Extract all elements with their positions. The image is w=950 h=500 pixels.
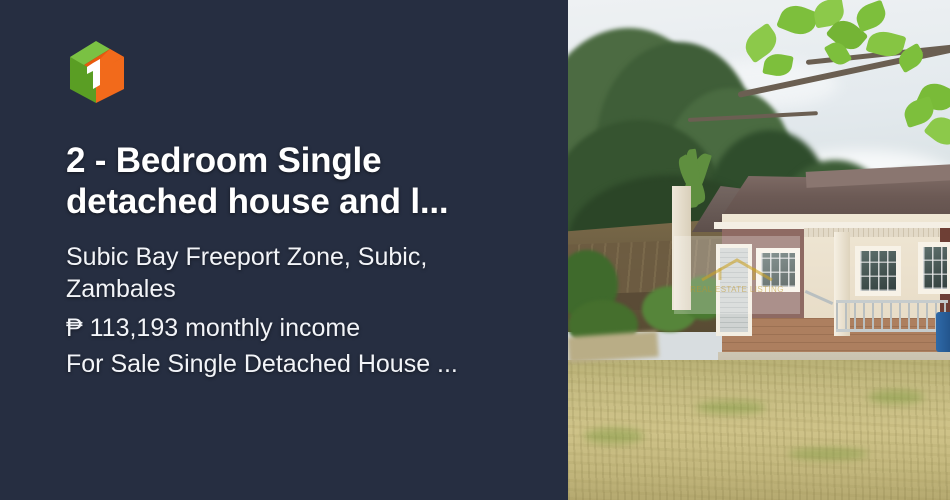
house-logo-icon[interactable]	[62, 33, 134, 107]
grass-patch	[584, 428, 644, 444]
dirt-path	[568, 331, 659, 363]
listing-text-stack: 2 - Bedroom Single detached house and l.…	[66, 140, 536, 381]
photo-watermark: REAL ESTATE LISTING	[674, 236, 800, 314]
grass-patch	[868, 390, 924, 404]
window	[855, 246, 901, 296]
window	[918, 242, 950, 294]
grass-patch	[788, 448, 868, 460]
water-barrel	[936, 312, 950, 352]
roof-soffit	[804, 228, 950, 237]
page-title: 2 - Bedroom Single detached house and l.…	[66, 140, 526, 223]
porch-railing	[836, 300, 948, 332]
watermark-label: REAL ESTATE LISTING	[690, 285, 784, 294]
listing-price: ₱ 113,193 monthly income	[66, 312, 536, 345]
listing-location: Subic Bay Freeport Zone, Subic, Zambales	[66, 241, 516, 306]
info-panel: 2 - Bedroom Single detached house and l.…	[0, 0, 568, 500]
listing-category: For Sale Single Detached House ...	[66, 348, 536, 381]
property-photo: REAL ESTATE LISTING	[568, 0, 950, 500]
roof-outline-icon	[698, 256, 776, 282]
property-listing-card: 2 - Bedroom Single detached house and l.…	[0, 0, 950, 500]
grass-patch	[696, 401, 766, 414]
